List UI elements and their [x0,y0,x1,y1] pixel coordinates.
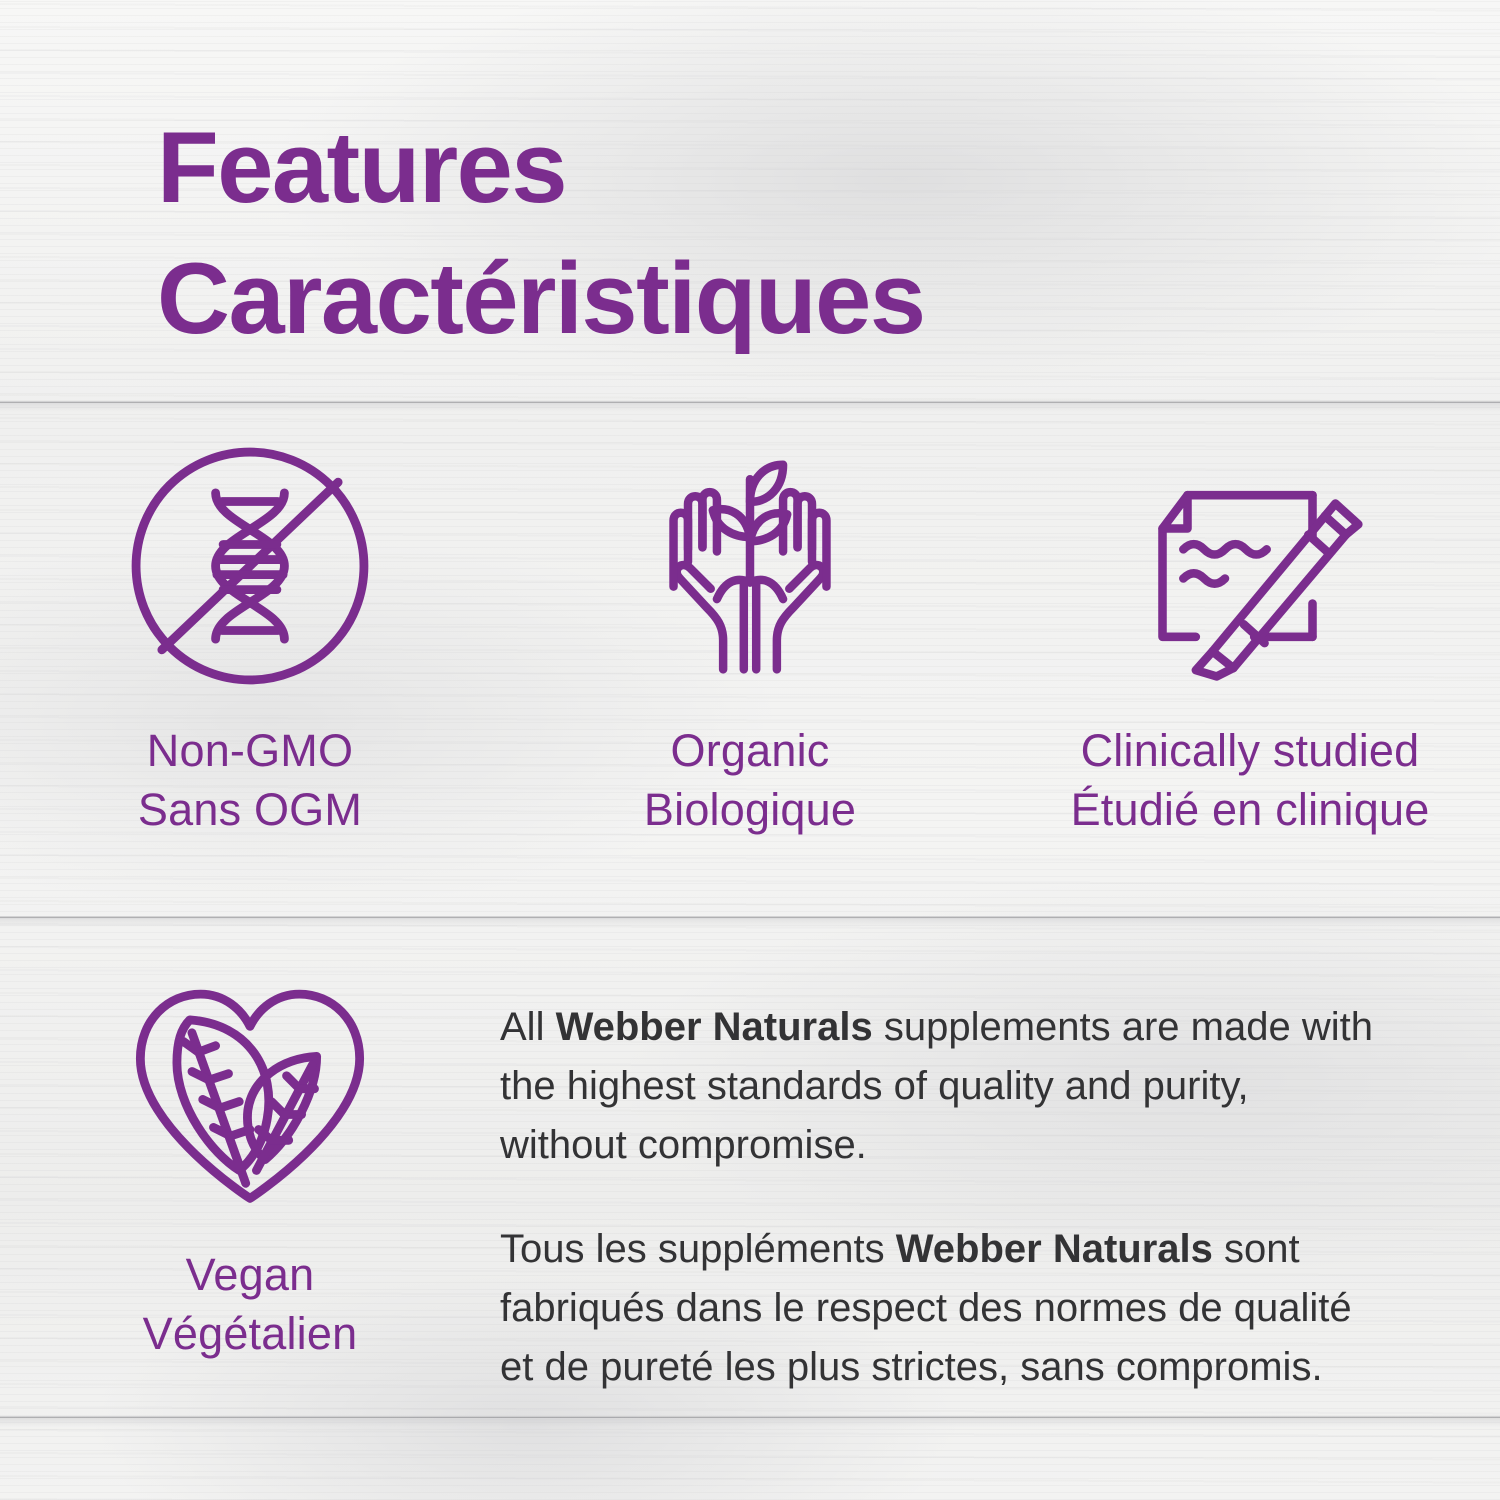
feature-infographic: Features Caractéristiques [0,0,1500,1500]
feature-label-clinically-studied: Clinically studied Étudié en clinique [1071,722,1430,839]
feature-label-organic: Organic Biologique [644,722,856,839]
feature-label-non-gmo: Non-GMO Sans OGM [138,722,362,839]
description-paragraph-fr: Tous les suppléments Webber Naturals son… [500,1220,1385,1396]
brand-description: All Webber Naturals supplements are made… [500,962,1500,1397]
feature-item-vegan: Vegan Végétalien [0,962,500,1363]
feature-item-non-gmo: Non-GMO Sans OGM [0,432,500,839]
copy-fr-before: Tous les suppléments [500,1227,896,1271]
non-gmo-dna-icon [121,432,379,700]
feature-item-clinically-studied: Clinically studied Étudié en clinique [1000,432,1500,839]
clinically-studied-document-pen-icon [1125,432,1375,700]
brand-name-fr: Webber Naturals [896,1227,1213,1271]
copy-en-before: All [500,1005,556,1049]
brand-name-en: Webber Naturals [556,1005,873,1049]
description-paragraph-en: All Webber Naturals supplements are made… [500,998,1385,1174]
feature-item-organic: Organic Biologique [500,432,1000,839]
page-title: Features Caractéristiques [157,103,1357,366]
feature-label-vegan: Vegan Végétalien [143,1246,358,1363]
feature-row-top: Non-GMO Sans OGM [0,432,1500,839]
vegan-heart-leaves-icon [121,962,379,1224]
organic-hands-plant-icon [626,432,874,700]
feature-row-bottom: Vegan Végétalien All Webber Naturals sup… [0,962,1500,1397]
